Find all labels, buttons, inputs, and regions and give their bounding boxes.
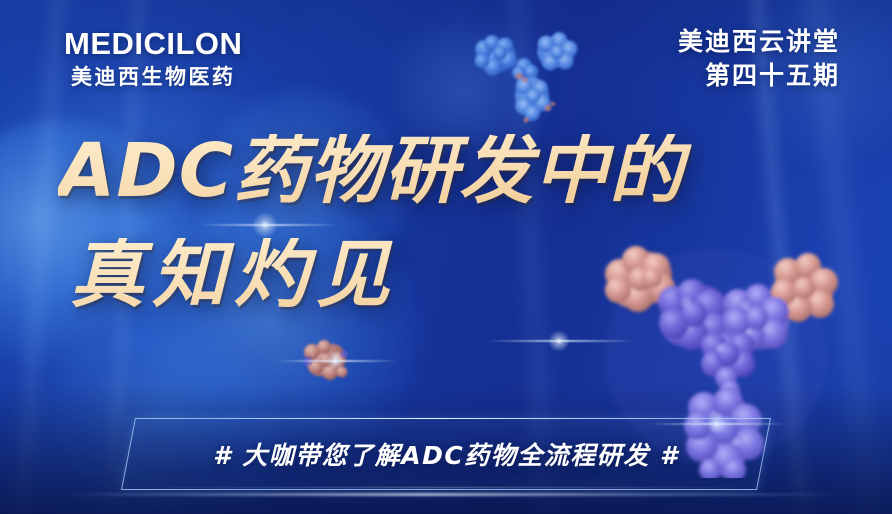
series-episode: 第四十五期 [678, 60, 840, 94]
headline-line-2: 真知灼见 [70, 238, 878, 312]
promo-banner: MEDICILON 美迪西生物医药 美迪西云讲堂 第四十五期 ADC药物研发中的… [0, 0, 892, 514]
brand-name-cn: 美迪西生物医药 [64, 67, 242, 88]
ground-light-streak [60, 493, 852, 496]
subtitle-banner: # 大咖带您了解ADC药物全流程研发 # [128, 418, 764, 490]
headline-line-1: ADC药物研发中的 [58, 134, 878, 208]
brand-logo: MEDICILON 美迪西生物医药 [64, 28, 242, 88]
subtitle-text: # 大咖带您了解ADC药物全流程研发 # [128, 418, 764, 490]
headline: ADC药物研发中的 真知灼见 [58, 134, 878, 312]
series-title: 美迪西云讲堂 [678, 26, 840, 60]
brand-name-en: MEDICILON [64, 28, 242, 59]
series-label: 美迪西云讲堂 第四十五期 [678, 26, 840, 93]
